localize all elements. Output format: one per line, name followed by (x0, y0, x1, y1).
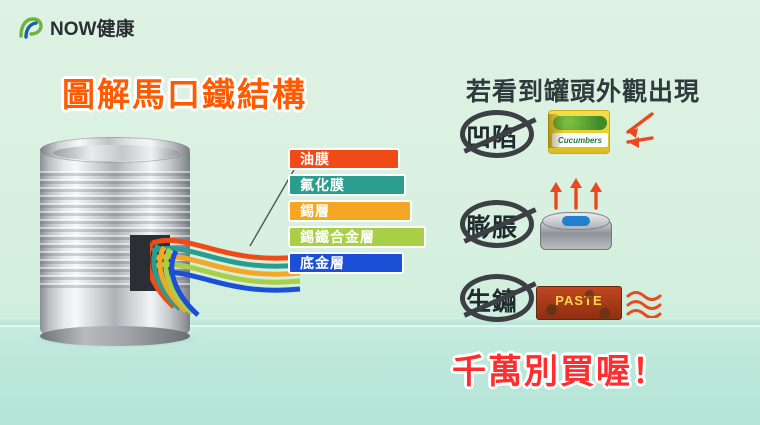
infographic-canvas: NOW健康 圖解馬口鐵結構 若看到罐頭外觀出現 (0, 0, 760, 425)
brand-logo[interactable]: NOW健康 (18, 14, 134, 41)
prohibition-icon (460, 110, 534, 158)
rusty-can-icon: PASTE (536, 286, 622, 320)
rust-spots (536, 286, 622, 320)
legend-item-4[interactable]: 底金層 (288, 252, 404, 274)
dent-shading (548, 114, 564, 148)
legend-label: 錫層 (300, 201, 330, 221)
can-pull-tab (562, 216, 590, 226)
brand-name: NOW健康 (50, 14, 134, 41)
prohibition-icon (460, 274, 534, 322)
warning-row-rust: 生鏽 (466, 282, 542, 318)
page-title: 圖解馬口鐵結構 (62, 68, 307, 116)
legend-label: 底金層 (300, 253, 345, 273)
layer-legend: 油膜 氟化膜 錫層 錫鐵合金層 底金層 (288, 148, 438, 278)
legend-item-1[interactable]: 氟化膜 (288, 174, 406, 196)
prohibition-icon (460, 200, 534, 248)
legend-label: 油膜 (300, 149, 330, 169)
now-health-logo-icon (18, 15, 44, 41)
legend-label: 錫鐵合金層 (300, 227, 375, 247)
legend-item-2[interactable]: 錫層 (288, 200, 412, 222)
legend-item-3[interactable]: 錫鐵合金層 (288, 226, 426, 248)
can-lid (40, 137, 190, 163)
legend-item-0[interactable]: 油膜 (288, 148, 400, 170)
warning-row-bulging: 膨脹 (466, 208, 542, 244)
rust-indicator-lines (624, 288, 672, 323)
legend-label: 氟化膜 (300, 175, 345, 195)
dent-arrows (612, 108, 658, 169)
warning-row-dented: 凹陷 (466, 118, 542, 154)
can-lid-inner (53, 145, 179, 161)
right-section-title: 若看到罐頭外觀出現 (466, 72, 700, 108)
warning-label: 膨脹 (466, 208, 542, 244)
brand-name-cn: 健康 (96, 19, 134, 40)
do-not-buy-warning: 千萬別買喔！ (452, 344, 668, 393)
warning-label: 生鏽 (466, 282, 542, 318)
bulging-can-icon (540, 212, 612, 252)
bulge-arrows (544, 178, 608, 217)
dented-can-icon: Cucumbers (548, 110, 610, 154)
brand-name-en: NOW (50, 19, 96, 40)
warning-label: 凹陷 (466, 118, 542, 154)
